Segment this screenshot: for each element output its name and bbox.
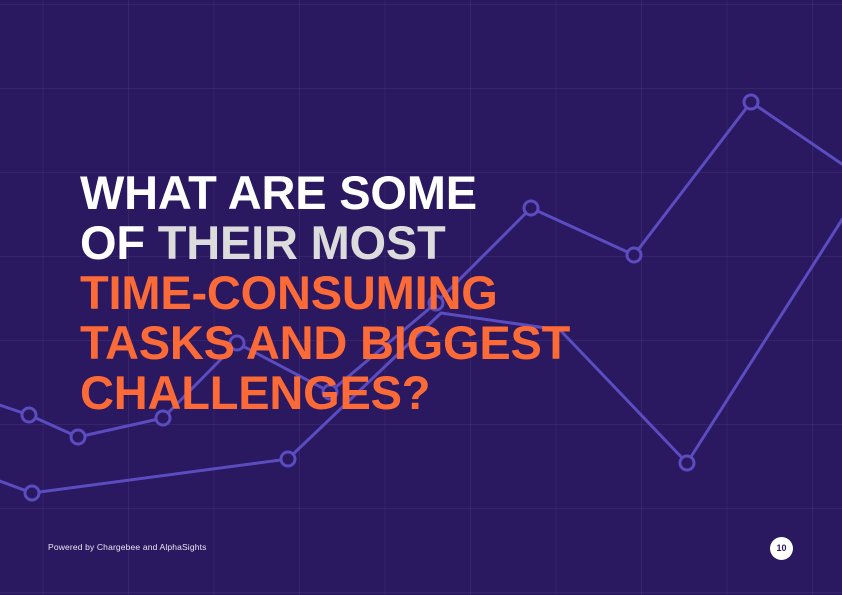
chart-data-point xyxy=(281,452,295,466)
headline-line-1: WHAT ARE SOME xyxy=(80,168,700,218)
chart-data-point xyxy=(680,456,694,470)
headline-line-4: TASKS AND BIGGEST xyxy=(80,318,700,368)
chart-data-point xyxy=(22,408,36,422)
headline-line-2: OF THEIR MOST xyxy=(80,218,700,268)
slide-canvas: WHAT ARE SOME OF THEIR MOST TIME-CONSUMI… xyxy=(0,0,842,595)
headline-line-2-dim: THEIR MOST xyxy=(158,216,446,269)
headline-line-5: CHALLENGES? xyxy=(80,368,700,418)
chart-data-point xyxy=(71,430,85,444)
page-number-label: 10 xyxy=(776,544,786,553)
footer-credit: Powered by Chargebee and AlphaSights xyxy=(48,542,207,552)
page-title: WHAT ARE SOME OF THEIR MOST TIME-CONSUMI… xyxy=(80,168,700,418)
page-number-badge: 10 xyxy=(770,537,793,560)
headline-line-2-strong: OF xyxy=(80,216,158,269)
headline-line-3: TIME-CONSUMING xyxy=(80,268,700,318)
chart-data-point xyxy=(25,486,39,500)
chart-data-point xyxy=(744,95,758,109)
